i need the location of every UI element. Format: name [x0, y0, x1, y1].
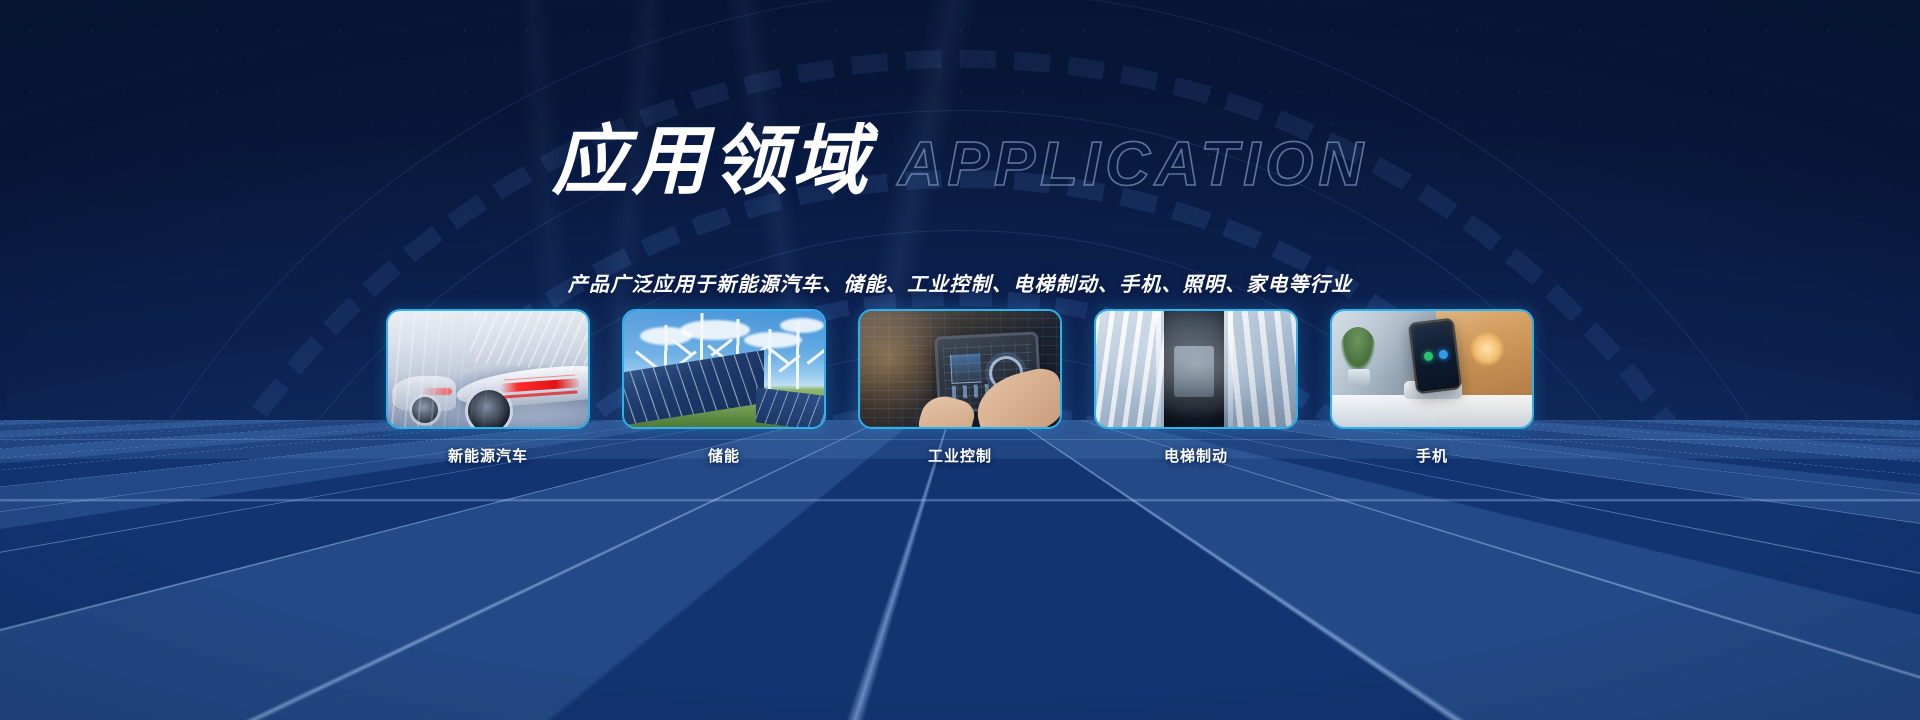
application-card-list: 新能源汽车 — [0, 309, 1920, 466]
application-card[interactable]: 工业控制 — [858, 309, 1062, 466]
title-row: 应用领域 APPLICATION — [0, 124, 1920, 200]
card-label: 电梯制动 — [1094, 445, 1298, 466]
thumbnail-gloss — [388, 311, 588, 427]
card-thumbnail[interactable] — [386, 309, 590, 429]
application-card[interactable]: 储能 — [622, 309, 826, 466]
card-label: 工业控制 — [858, 445, 1062, 466]
card-label: 新能源汽车 — [386, 445, 590, 466]
card-label: 手机 — [1330, 445, 1534, 466]
thumbnail-gloss — [1332, 311, 1532, 427]
page-title: 应用领域 — [552, 124, 872, 200]
page-title-english: APPLICATION — [898, 134, 1369, 200]
card-thumbnail[interactable] — [1330, 309, 1534, 429]
application-card[interactable]: 新能源汽车 — [386, 309, 590, 466]
thumbnail-gloss — [624, 311, 824, 427]
card-thumbnail[interactable] — [858, 309, 1062, 429]
page-subtitle: 产品广泛应用于新能源汽车、储能、工业控制、电梯制动、手机、照明、家电等行业 — [0, 268, 1920, 297]
banner-content: 应用领域 APPLICATION 产品广泛应用于新能源汽车、储能、工业控制、电梯… — [0, 0, 1920, 720]
card-label: 储能 — [622, 445, 826, 466]
card-thumbnail[interactable] — [1094, 309, 1298, 429]
card-thumbnail[interactable] — [622, 309, 826, 429]
application-banner: 应用领域 APPLICATION 产品广泛应用于新能源汽车、储能、工业控制、电梯… — [0, 0, 1920, 720]
application-card[interactable]: 手机 — [1330, 309, 1534, 466]
thumbnail-gloss — [1096, 311, 1296, 427]
application-card[interactable]: 电梯制动 — [1094, 309, 1298, 466]
thumbnail-gloss — [860, 311, 1060, 427]
